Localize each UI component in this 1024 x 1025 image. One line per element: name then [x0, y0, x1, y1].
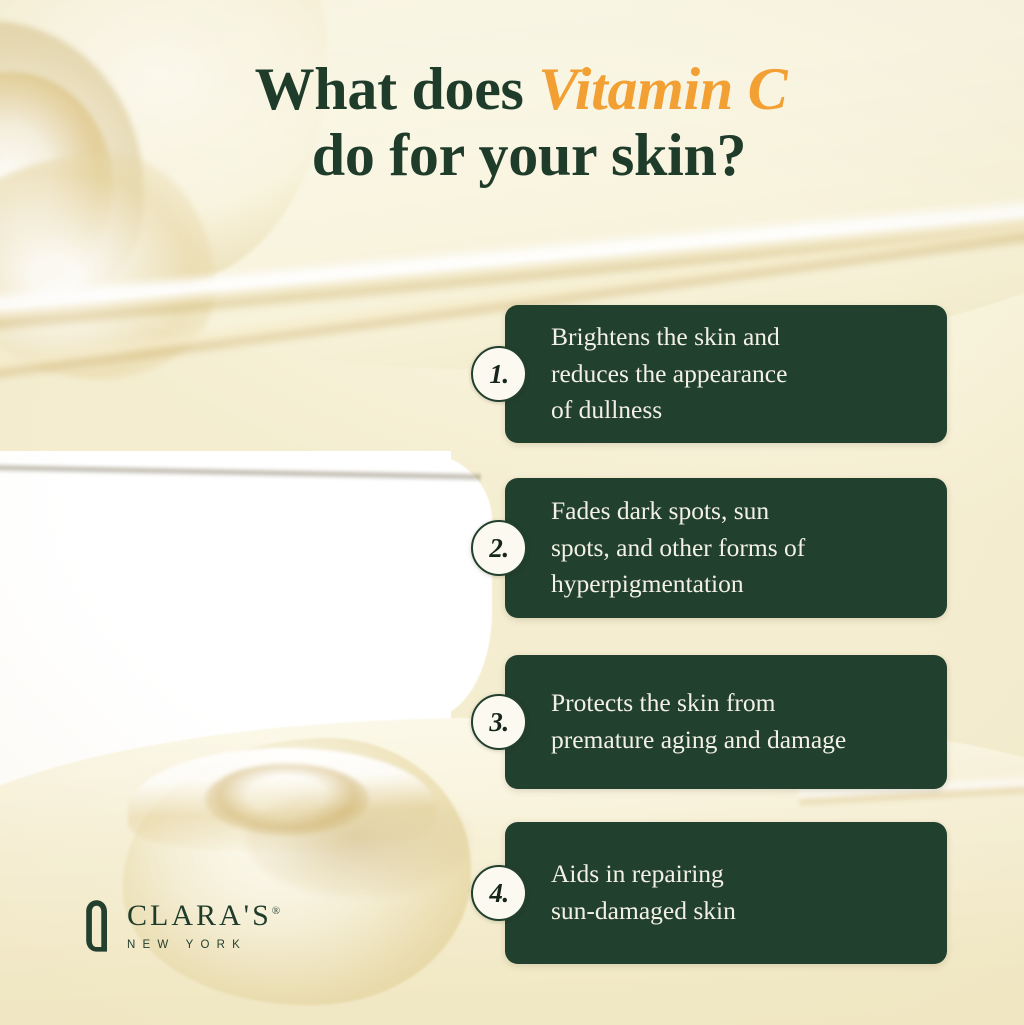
benefit-card-2[interactable]: 2. Fades dark spots, sun spots, and othe…	[505, 478, 947, 618]
benefit-card-3[interactable]: 3. Protects the skin from premature agin…	[505, 655, 947, 789]
benefit-text-2: Fades dark spots, sun spots, and other f…	[505, 493, 825, 603]
logo-tagline: NEW YORK	[127, 940, 280, 952]
claras-monogram-icon	[82, 898, 110, 954]
benefit-card-4[interactable]: 4. Aids in repairing sun-damaged skin	[505, 822, 947, 964]
benefit-number-badge-1: 1.	[471, 346, 527, 402]
benefit-number-badge-3: 3.	[471, 694, 527, 750]
benefit-card-1[interactable]: 1. Brightens the skin and reduces the ap…	[505, 305, 947, 443]
registered-trademark-icon: ®	[272, 905, 280, 917]
logo-text-block: CLARA'S® NEW YORK	[127, 901, 280, 952]
benefit-text-4: Aids in repairing sun-damaged skin	[505, 856, 756, 929]
logo-wordmark-text: CLARA'S	[127, 899, 272, 932]
infographic-canvas: What does Vitamin C do for your skin? 1.…	[0, 0, 1024, 1025]
benefits-list: 1. Brightens the skin and reduces the ap…	[0, 0, 1024, 1025]
benefit-text-3: Protects the skin from premature aging a…	[505, 685, 866, 758]
benefit-number-badge-4: 4.	[471, 865, 527, 921]
logo-wordmark: CLARA'S®	[127, 901, 280, 931]
benefit-number-badge-2: 2.	[471, 520, 527, 576]
benefit-text-1: Brightens the skin and reduces the appea…	[505, 319, 807, 429]
brand-logo[interactable]: CLARA'S® NEW YORK	[82, 898, 280, 954]
